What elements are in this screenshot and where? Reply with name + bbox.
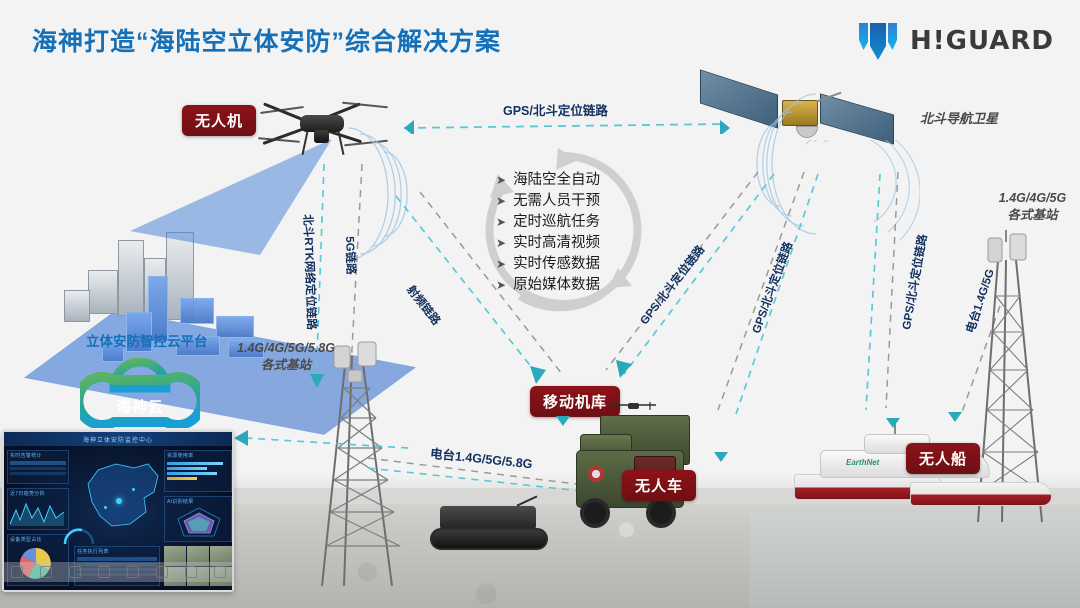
label-satellite: 北斗导航卫星 bbox=[920, 108, 998, 127]
monitor-header-title: 海神立体安防监控中心 bbox=[4, 432, 232, 446]
badge-ugv: 无人车 bbox=[622, 470, 696, 501]
ugv-emblem bbox=[588, 466, 604, 482]
robot-body bbox=[440, 506, 536, 530]
cloud-name: 海神云 bbox=[80, 396, 200, 417]
drone-camera-icon bbox=[314, 130, 329, 143]
arrow-marker bbox=[556, 416, 570, 426]
fullscreen-icon[interactable] bbox=[98, 566, 110, 578]
building bbox=[88, 270, 118, 314]
hangar-drone bbox=[608, 400, 658, 414]
ugv-wheel bbox=[580, 498, 610, 528]
cloud-logo: 海神云 bbox=[80, 358, 200, 428]
panel-title: 任务执行列表 bbox=[75, 547, 159, 556]
cloud-icon bbox=[80, 358, 200, 428]
label-base-station-right: 1.4G/4G/5G 各式基站 bbox=[985, 190, 1080, 224]
panel-title: 资源使用率 bbox=[165, 451, 231, 460]
badge-drone: 无人机 bbox=[182, 105, 256, 136]
label-base-right-line2: 各式基站 bbox=[985, 207, 1080, 224]
panel-resource-usage[interactable]: 资源使用率 bbox=[164, 450, 232, 492]
building bbox=[64, 290, 90, 322]
label-gps-top-link: GPS/北斗定位链路 bbox=[503, 100, 608, 119]
prev-icon[interactable] bbox=[11, 566, 23, 578]
tracked-robot-model bbox=[430, 500, 548, 558]
screen-icon[interactable] bbox=[127, 566, 139, 578]
panel-title: 实时告警统计 bbox=[8, 451, 68, 460]
play-icon[interactable] bbox=[40, 566, 52, 578]
label-cloud-platform: 立体安防智控云平台 bbox=[86, 330, 208, 350]
usage-bar bbox=[167, 472, 217, 475]
map-marker bbox=[104, 506, 107, 509]
panel-trend-chart[interactable]: 近7日趋势分析 bbox=[7, 488, 69, 530]
boat-brand-text: EarthNet bbox=[846, 458, 879, 467]
brand-name: H!GUARD bbox=[910, 26, 1054, 56]
ugv-wheel bbox=[646, 498, 676, 528]
boat-hull-right bbox=[910, 482, 1052, 506]
monitor-controls-bar bbox=[2, 562, 234, 582]
label-5g-link: 5G链路 bbox=[342, 236, 359, 275]
pen-icon[interactable] bbox=[69, 566, 81, 578]
next-icon[interactable] bbox=[214, 566, 226, 578]
robot-track bbox=[430, 528, 548, 550]
slide-canvas: 海神打造“海陆空立体安防”综合解决方案 H!GUARD bbox=[0, 0, 1080, 608]
trend-sparkline bbox=[8, 498, 68, 526]
label-base-left-line1: 1.4G/4G/5G/5.8G bbox=[226, 340, 346, 357]
gauge-widget bbox=[62, 524, 96, 546]
label-base-right-line1: 1.4G/4G/5G bbox=[985, 190, 1080, 207]
map-marker bbox=[132, 488, 135, 491]
arrow-bullet-icon: ➤ bbox=[496, 170, 506, 190]
drone-leg bbox=[302, 131, 309, 155]
building-highlight bbox=[216, 316, 254, 338]
label-base-station-left: 1.4G/4G/5G/5.8G 各式基站 bbox=[226, 340, 346, 374]
page-title: 海神打造“海陆空立体安防”综合解决方案 bbox=[32, 22, 501, 58]
arrow-marker bbox=[886, 418, 900, 428]
panel-title: 设备类型占比 bbox=[8, 535, 68, 544]
link-gps-top bbox=[400, 118, 730, 134]
radar-chart bbox=[172, 506, 226, 538]
badge-hangar: 移动机库 bbox=[530, 386, 620, 417]
usage-bar bbox=[167, 462, 223, 465]
building-highlight bbox=[180, 298, 214, 324]
shield-arrow-icon bbox=[858, 20, 898, 62]
list-item-label: 海陆空全自动 bbox=[513, 170, 600, 190]
map-marker bbox=[116, 498, 122, 504]
panel-title: AI识别结果 bbox=[165, 497, 231, 506]
menu-icon[interactable] bbox=[185, 566, 197, 578]
badge-usv: 无人船 bbox=[906, 443, 980, 474]
solar-panel bbox=[820, 93, 894, 144]
panel-ai-result[interactable]: AI识别结果 bbox=[164, 496, 232, 542]
usage-bar bbox=[167, 477, 197, 480]
arrow-marker bbox=[714, 452, 728, 462]
arrow-marker bbox=[948, 412, 962, 422]
panel-alarm-stats[interactable]: 实时告警统计 bbox=[7, 450, 69, 484]
panel-title: 近7日趋势分析 bbox=[8, 489, 68, 498]
usage-bar bbox=[167, 467, 207, 470]
brand-logo: H!GUARD bbox=[858, 20, 1054, 62]
label-base-left-line2: 各式基站 bbox=[226, 357, 346, 374]
chat-icon[interactable] bbox=[156, 566, 168, 578]
